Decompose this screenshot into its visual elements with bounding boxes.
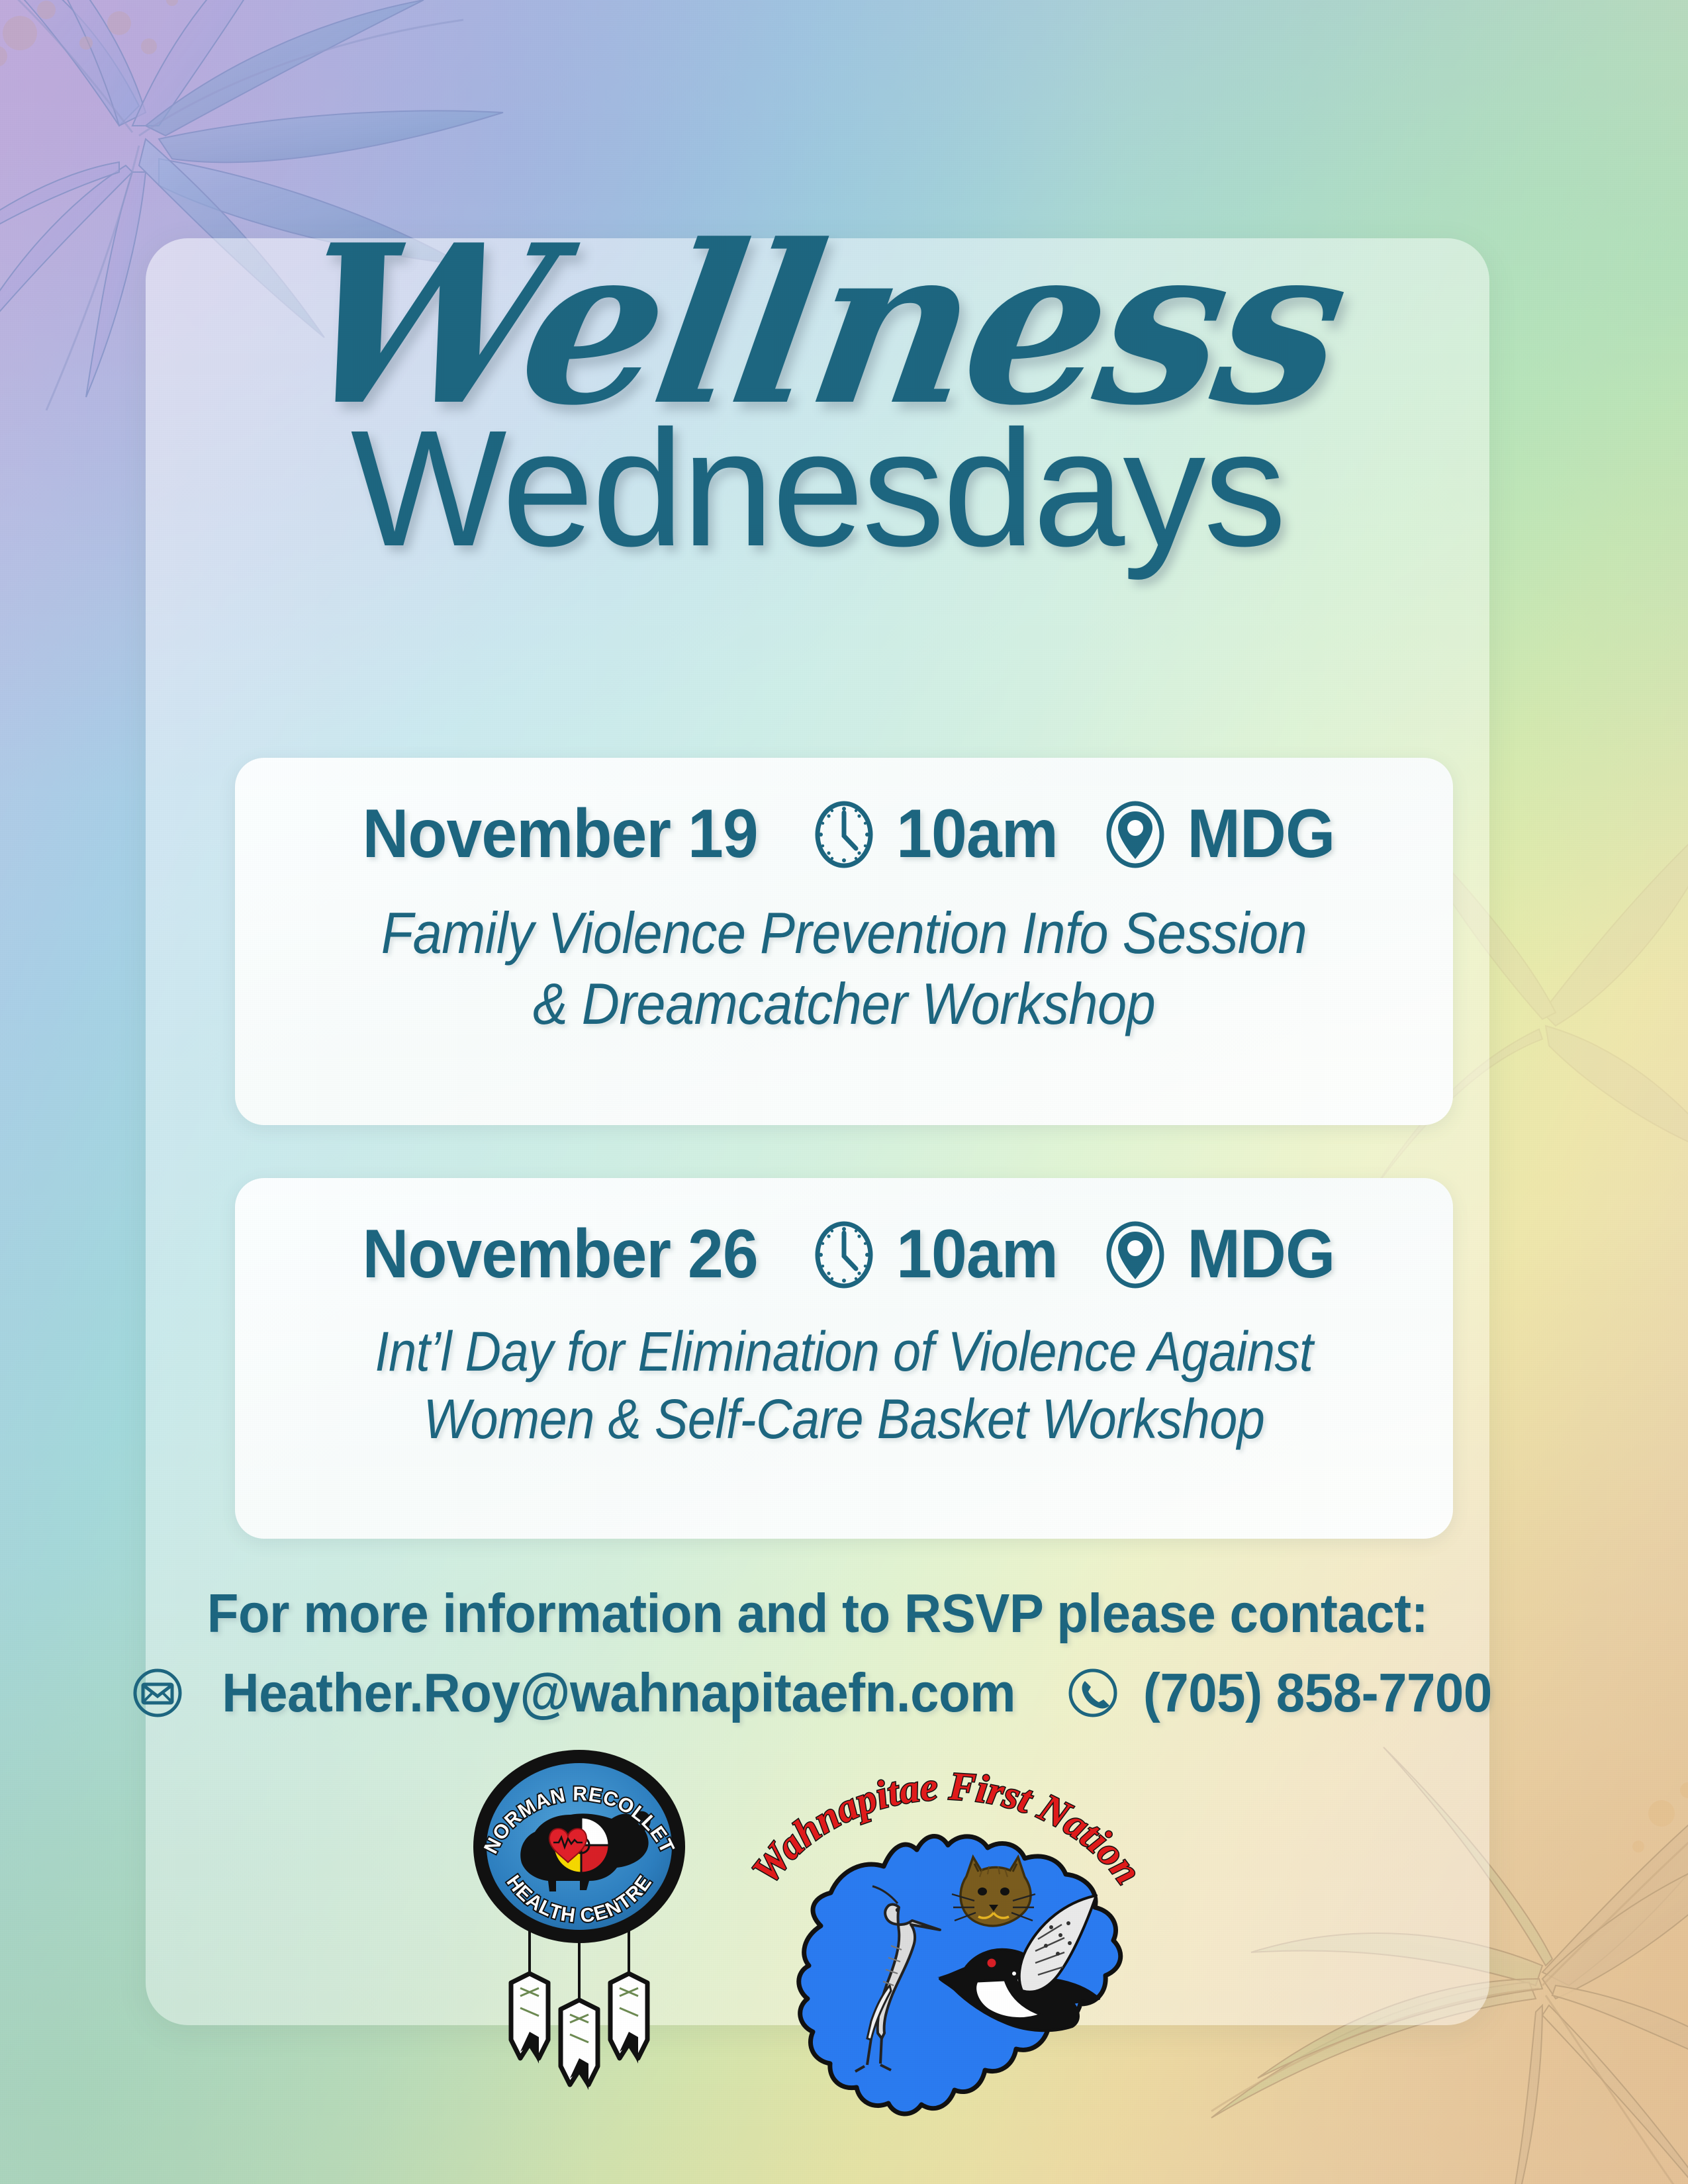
paper-texture-overlay: [0, 0, 1688, 2184]
poster-canvas: Wellness Wednesdays November 19: [0, 0, 1688, 2184]
